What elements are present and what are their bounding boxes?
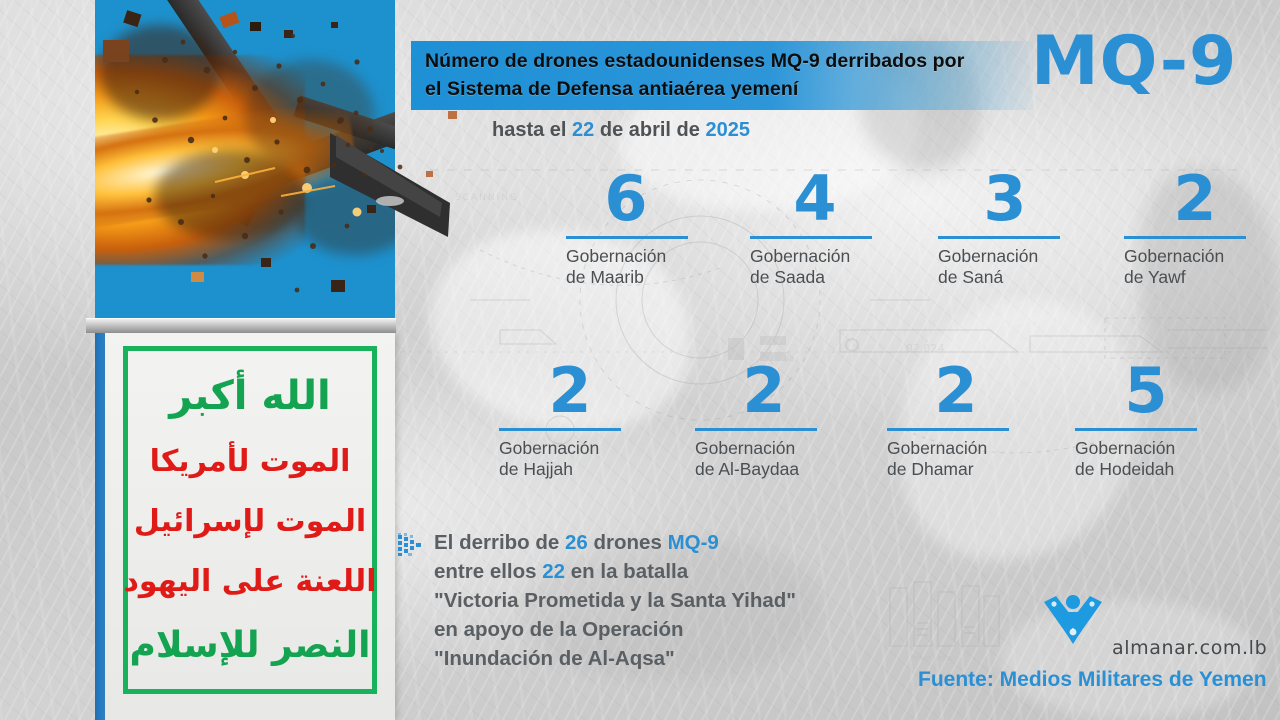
stat-underline (1075, 428, 1197, 431)
stat-underline (887, 428, 1009, 431)
summary-line-3: "Victoria Prometida y la Santa Yihad" (434, 586, 796, 615)
stat-item: 5 Gobernación de Hodeidah (1061, 362, 1253, 480)
summary-count-22: 22 (542, 560, 565, 583)
stat-item: 6 Gobernación de Maarib (540, 170, 732, 288)
mq9-badge: MQ-9 (1031, 28, 1237, 96)
summary-line-2: entre ellos 22 en la batalla (434, 557, 796, 586)
date-year: 2025 (705, 119, 750, 141)
stat-value: 2 (851, 362, 1061, 420)
summary-l1-a: El derribo de (434, 531, 565, 554)
poster-hanging-rod (86, 318, 396, 333)
poster-line-4: اللعنة على اليهود (124, 567, 377, 597)
almanar-logo-icon (1042, 592, 1104, 646)
stats-row-1: 6 Gobernación de Maarib 4 Gobernación de… (540, 170, 1280, 288)
infographic-root: 02 024 M-94 SCANNING Power Units (0, 0, 1280, 720)
stat-item: 2 Gobernación de Yawf (1116, 170, 1280, 288)
summary-line-5: "Inundación de Al-Aqsa" (434, 644, 796, 673)
date-day: 22 (572, 119, 594, 141)
summary-mq9: MQ-9 (668, 531, 719, 554)
summary-l2-a: entre ellos (434, 560, 542, 583)
headline-line-2: el Sistema de Defensa antiaérea yemení (425, 76, 1033, 104)
bar-chart-watermark-icon: Power Units (884, 578, 1004, 666)
stat-value: 2 (1082, 170, 1280, 228)
stat-label: Gobernación de Hodeidah (1075, 438, 1253, 479)
stat-underline (750, 236, 872, 239)
stat-value: 6 (520, 170, 732, 228)
drone-wing-fragment (330, 105, 470, 335)
stat-label: Gobernación de Hajjah (499, 438, 677, 479)
source-label: Fuente: Medios Militares de Yemen (918, 668, 1267, 692)
summary-l1-b: drones (588, 531, 668, 554)
date-subtitle: hasta el 22 de abril de 2025 (492, 119, 750, 142)
svg-text:Power Units: Power Units (910, 654, 952, 662)
stat-value: 5 (1039, 362, 1253, 420)
stat-value: 2 (659, 362, 869, 420)
date-prefix: hasta el (492, 119, 572, 141)
summary-block: El derribo de 26 drones MQ-9 entre ellos… (434, 528, 796, 674)
stat-underline (695, 428, 817, 431)
stat-label: Gobernación de Maarib (566, 246, 732, 287)
stat-label: Gobernación de Saná (938, 246, 1116, 287)
summary-line-4: en apoyo de la Operación (434, 615, 796, 644)
summary-line-1: El derribo de 26 drones MQ-9 (434, 528, 796, 557)
summary-count-26: 26 (565, 531, 588, 554)
stat-label: Gobernación de Al-Baydaa (695, 438, 869, 479)
stat-item: 2 Gobernación de Al-Baydaa (677, 362, 869, 480)
headline-line-1: Número de drones estadounidenses MQ-9 de… (425, 48, 1033, 76)
poster-line-1: الله أكبر (169, 376, 330, 416)
arabic-slogan-poster: الله أكبر الموت لأمريكا الموت لإسرائيل ا… (105, 332, 395, 720)
stat-underline (499, 428, 621, 431)
stat-value: 4 (706, 170, 924, 228)
poster-blue-strip (95, 325, 105, 720)
stat-underline (566, 236, 688, 239)
stat-underline (1124, 236, 1246, 239)
stat-label: Gobernación de Dhamar (887, 438, 1061, 479)
stat-item: 2 Gobernación de Hajjah (485, 362, 677, 480)
stat-label: Gobernación de Saada (750, 246, 924, 287)
stat-label: Gobernación de Yawf (1124, 246, 1280, 287)
stat-value: 2 (463, 362, 677, 420)
website-label: almanar.com.lb (1112, 637, 1267, 659)
stat-underline (938, 236, 1060, 239)
poster-frame: الله أكبر الموت لأمريكا الموت لإسرائيل ا… (123, 346, 377, 694)
poster-line-3: الموت لإسرائيل (134, 507, 366, 537)
poster-line-2: الموت لأمريكا (150, 447, 351, 477)
poster-line-5: النصر للإسلام (130, 628, 371, 664)
stats-row-2: 2 Gobernación de Hajjah 2 Gobernación de… (485, 362, 1253, 480)
stat-item: 2 Gobernación de Dhamar (869, 362, 1061, 480)
pixel-arrow-bullet-icon (398, 533, 424, 557)
headline-banner: Número de drones estadounidenses MQ-9 de… (411, 41, 1033, 110)
date-mid: de abril de (594, 119, 705, 141)
summary-l2-b: en la batalla (565, 560, 688, 583)
